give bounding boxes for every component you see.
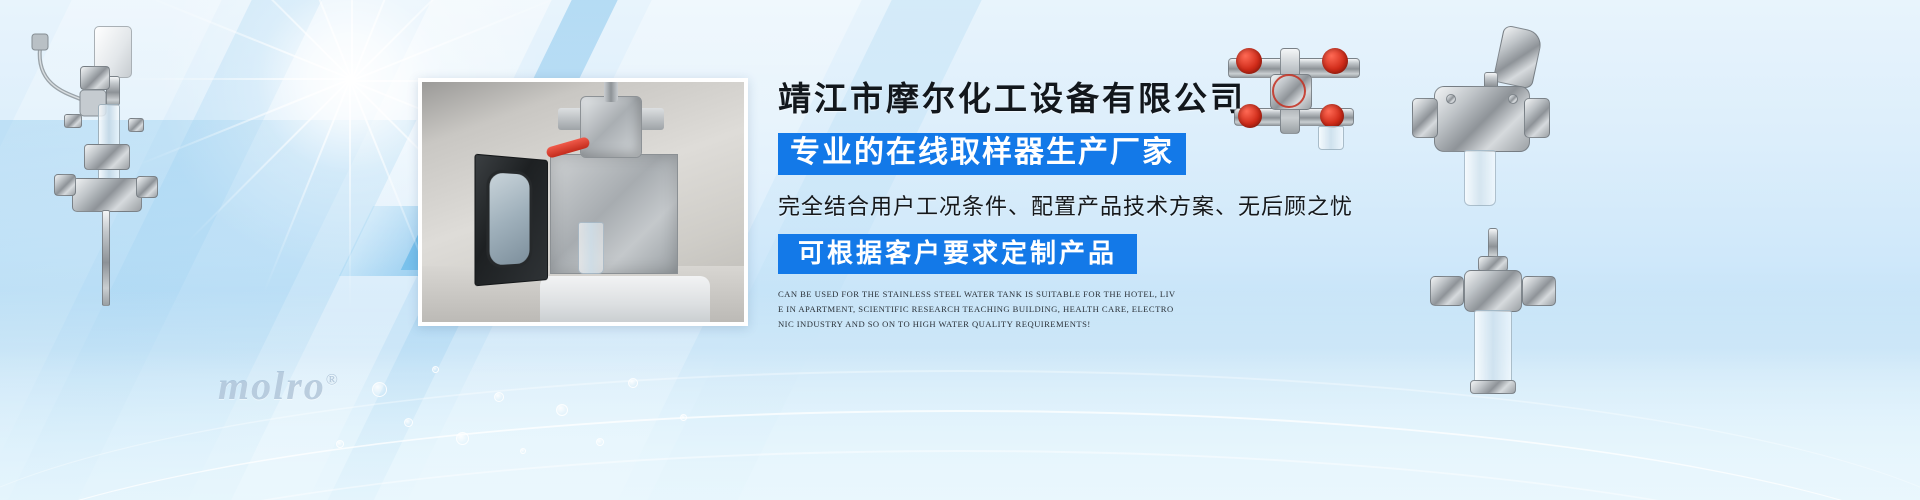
valve-flange-left [54, 174, 76, 196]
droplet [432, 366, 439, 373]
wave-line-2 [0, 450, 1920, 500]
valve-bolt-1 [1446, 94, 1456, 104]
photo-cabinet-body [550, 154, 678, 274]
english-description: CAN BE USED FOR THE STAINLESS STEEL WATE… [778, 287, 1178, 331]
droplet [556, 404, 568, 416]
droplet [596, 438, 604, 446]
product-red-handwheel-manifold [1212, 30, 1382, 150]
droplet [404, 418, 413, 427]
handwheel-top-left [1236, 48, 1262, 74]
droplet [628, 378, 638, 388]
handwheel-bottom-left [1238, 104, 1262, 128]
photo-pedestal [540, 276, 710, 322]
manifold-brand-seal [1272, 74, 1306, 108]
product-lever-flange-valve [1406, 24, 1570, 216]
sub-slogan: 完全结合用户工况条件、配置产品技术方案、无后顾之忧 [778, 189, 1418, 221]
valve-sight-glass [1464, 150, 1496, 206]
droplet [494, 392, 504, 402]
valve-flange-right [136, 176, 158, 198]
valve-block-upper [80, 66, 110, 90]
photo-valve-stem [604, 82, 618, 102]
valve-block-lower [72, 178, 142, 212]
triclamp-body [1464, 270, 1522, 312]
photo-door-window [486, 169, 532, 269]
watermark-text: molro [218, 363, 326, 408]
valve-flange-b [1524, 98, 1550, 138]
hero-banner: 靖江市摩尔化工设备有限公司 专业的在线取样器生产厂家 完全结合用户工况条件、配置… [0, 0, 1920, 500]
valve-flange-a [1412, 98, 1438, 138]
droplet [456, 432, 469, 445]
wave-line-1 [0, 410, 1920, 500]
left-equipment-assembly [10, 18, 170, 318]
triclamp-flange-left [1430, 276, 1464, 306]
primary-slogan: 专业的在线取样器生产厂家 [778, 133, 1186, 175]
nut-1 [64, 114, 82, 128]
lever-handle [1492, 24, 1543, 89]
photo-sample-bottle [578, 222, 604, 274]
manifold-sample-bottle [1318, 126, 1344, 150]
droplet [336, 440, 344, 448]
product-photo [418, 78, 748, 326]
photo-valve-head [580, 96, 642, 158]
secondary-slogan: 可根据客户要求定制产品 [778, 234, 1137, 274]
valve-bolt-2 [1508, 94, 1518, 104]
triclamp-bottom-cap [1470, 380, 1516, 394]
probe-rod [102, 210, 110, 306]
watermark-logo: molro® [218, 362, 340, 409]
droplet [520, 448, 526, 454]
product-triclamp-sight-valve [1418, 228, 1574, 398]
valve-block-mid [84, 144, 130, 170]
triclamp-glass-tube [1474, 310, 1512, 388]
droplet [372, 382, 387, 397]
watermark-registered-mark: ® [326, 372, 340, 389]
handwheel-top-right [1322, 48, 1348, 74]
handwheel-bottom-right [1320, 104, 1344, 128]
triclamp-flange-right [1522, 276, 1556, 306]
nut-2 [128, 118, 144, 132]
photo-cabinet-door [474, 154, 548, 287]
droplet [680, 414, 687, 421]
